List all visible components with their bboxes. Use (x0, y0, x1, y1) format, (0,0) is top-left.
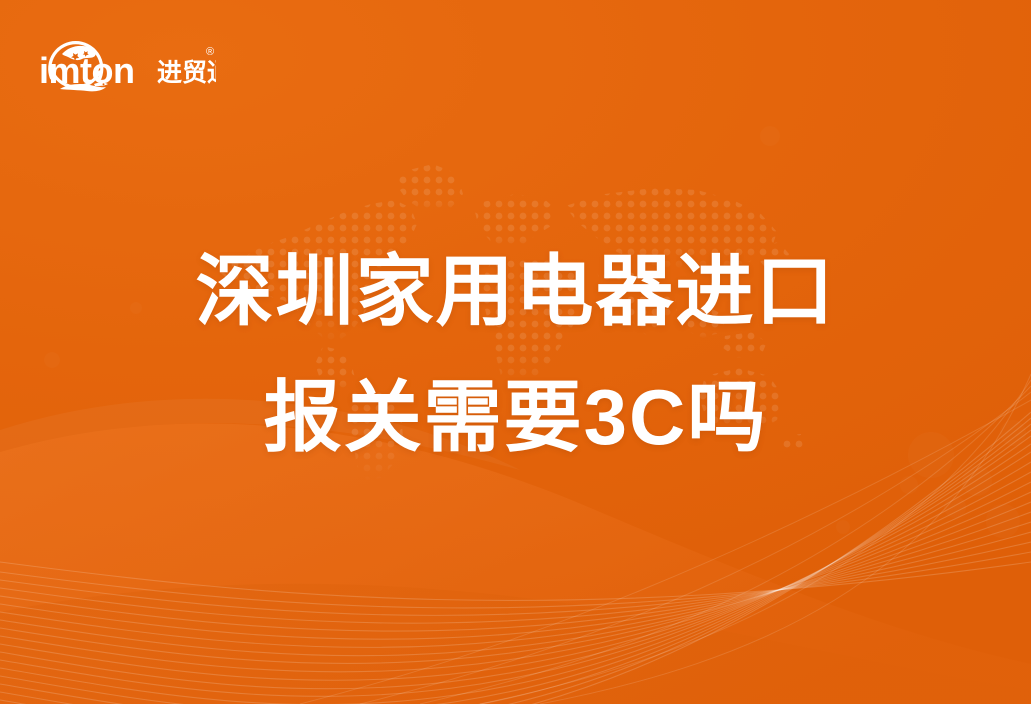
logo-wordmark: imton (39, 50, 134, 91)
promo-banner: imton 进贸通 ® 深圳家用电器进口 报关需要3C吗 (0, 0, 1031, 704)
logo-chinese-name: 进贸通 (157, 59, 216, 87)
headline-line-2: 报关需要3C吗 (0, 378, 1031, 456)
headline: 深圳家用电器进口 报关需要3C吗 (0, 252, 1031, 456)
registered-mark-icon: ® (206, 46, 214, 58)
brand-logo[interactable]: imton 进贸通 ® (38, 26, 216, 102)
headline-line-1: 深圳家用电器进口 (0, 252, 1031, 330)
